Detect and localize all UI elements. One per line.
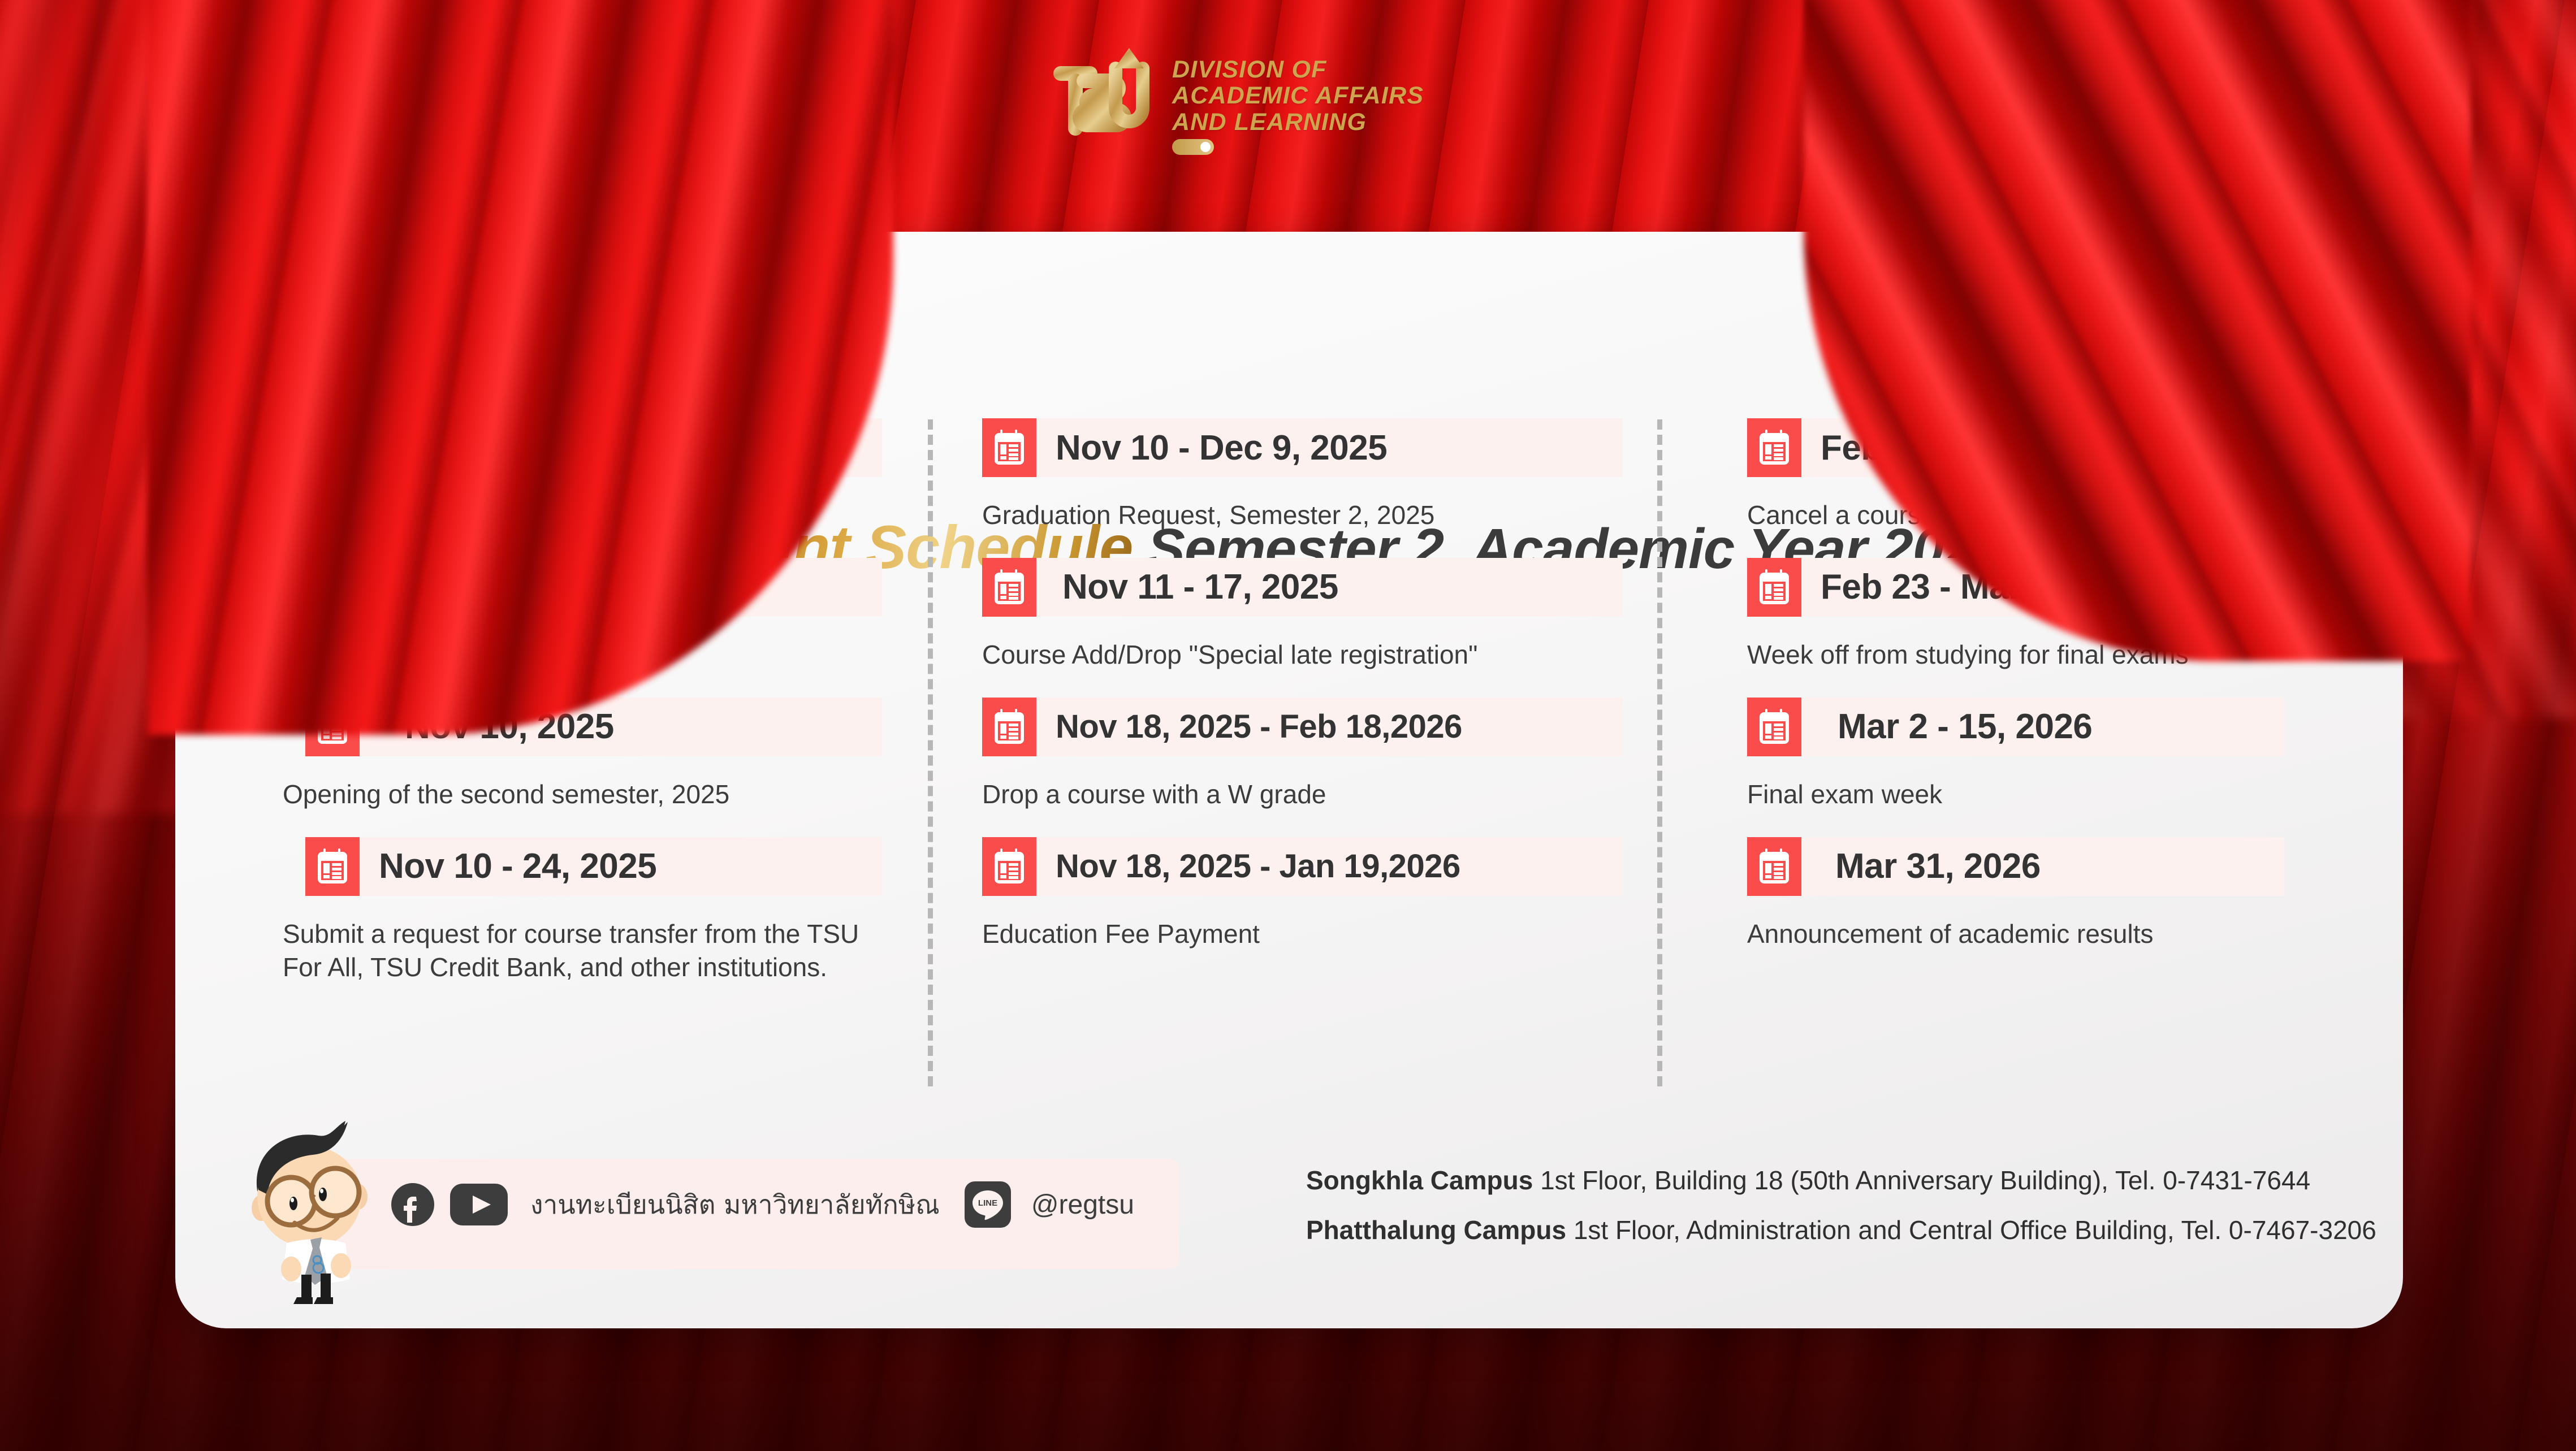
entry-description: Drop a course with a W grade (982, 778, 1623, 811)
schedule-entry[interactable]: Feb 9, 2026 Cancel a course for who don'… (1747, 418, 2369, 532)
logo-accent-dot (1172, 139, 1214, 155)
date-badge[interactable]: Nov 18, 2025 - Feb 18,2026 (982, 698, 1623, 756)
social-links-row: งานทะเบียนนิสิต มหาวิทยาลัยทักษิณ LINE @… (390, 1181, 1134, 1228)
calendar-icon (1747, 837, 1801, 896)
logo-line-3: AND LEARNING (1172, 110, 1424, 135)
date-badge[interactable]: Nov 18, 2025 - Jan 19,2026 (982, 837, 1623, 896)
date-text: Mar 2 - 15, 2026 (1801, 698, 2284, 756)
schedule-entry[interactable]: Nov 10 - Dec 9, 2025 Graduation Request,… (982, 418, 1623, 532)
date-text: Nov 18, 2025 - Jan 19,2026 (1036, 837, 1623, 896)
tsu-logo: DIVISION OF ACADEMIC AFFAIRS AND LEARNIN… (1049, 48, 1424, 164)
line-handle: @regtsu (1031, 1189, 1134, 1220)
footer: งานทะเบียนนิสิต มหาวิทยาลัยทักษิณ LINE @… (175, 1122, 2403, 1309)
date-text: Mar 31, 2026 (1801, 837, 2284, 896)
schedule-entry[interactable]: Mar 31, 2026 Announcement of academic re… (1747, 837, 2369, 951)
date-text: Oct 27 - Nov 2, 2025 (337, 418, 882, 477)
date-badge[interactable]: Mar 31, 2026 (1747, 837, 2284, 896)
entry-description: Week off from studying for final exams (1747, 638, 2369, 672)
calendar-icon (982, 837, 1036, 896)
entry-description: Online Course Add/Drop (283, 638, 882, 672)
campus-detail: 1st Floor, Building 18 (50th Anniversary… (1540, 1166, 2310, 1195)
schedule-column-2: Nov 10 - Dec 9, 2025 Graduation Request,… (933, 418, 1662, 1097)
schedule-entry[interactable]: Oct 27 - Nov 2, 2025 Course Registration… (283, 418, 882, 532)
mascot-illustration (235, 1118, 404, 1304)
entry-description: Cancel a course for who don't pay tuitio… (1747, 499, 2369, 532)
date-text: Feb 9, 2026 (1801, 418, 2284, 477)
calendar-icon (1747, 698, 1801, 756)
tsu-logo-text: DIVISION OF ACADEMIC AFFAIRS AND LEARNIN… (1172, 57, 1424, 155)
entry-description: Graduation Request, Semester 2, 2025 (982, 499, 1623, 532)
campus-line: Phatthalung Campus 1st Floor, Administra… (1306, 1217, 2376, 1243)
date-badge[interactable]: Feb 9, 2026 (1747, 418, 2284, 477)
calendar-icon (283, 418, 337, 477)
schedule-card: Important Schedule Semester 2, Academic … (175, 232, 2403, 1328)
schedule-column-1: Oct 27 - Nov 2, 2025 Course Registration… (175, 418, 933, 1097)
calendar-icon (1747, 558, 1801, 617)
date-badge[interactable]: Feb 23 - Mar 1, 2026 (1747, 558, 2284, 617)
date-badge[interactable]: Nov 10 - 24, 2025 (305, 837, 882, 896)
date-badge[interactable]: Nov 10, 2025 (305, 698, 882, 756)
calendar-icon (1747, 418, 1801, 477)
date-text: Nov 10 - Dec 9, 2025 (1036, 418, 1623, 477)
entry-description: Course Registration Semester 2,2025 (283, 499, 882, 532)
logo-line-1: DIVISION OF (1172, 57, 1424, 82)
campus-name: Phatthalung Campus (1306, 1215, 1566, 1245)
entry-description: Final exam week (1747, 778, 2369, 811)
schedule-entry[interactable]: Nov 18, 2025 - Jan 19,2026 Education Fee… (982, 837, 1623, 951)
date-text: Nov 10 - 24, 2025 (360, 837, 882, 896)
date-badge[interactable]: Nov 11 - 17, 2025 (982, 558, 1623, 617)
column-divider (1657, 419, 1662, 1086)
campus-line: Songkhla Campus 1st Floor, Building 18 (… (1306, 1167, 2376, 1193)
date-text: Nov 3 - 10, 2025 (360, 558, 882, 617)
calendar-icon (305, 837, 360, 896)
entry-description: Opening of the second semester, 2025 (283, 778, 882, 811)
calendar-icon (305, 698, 360, 756)
schedule-entry[interactable]: Nov 3 - 10, 2025 Online Course Add/Drop (305, 558, 882, 672)
tsu-logo-mark (1049, 48, 1162, 164)
schedule-entry[interactable]: Nov 11 - 17, 2025 Course Add/Drop "Speci… (982, 558, 1623, 672)
calendar-icon (305, 558, 360, 617)
entry-description: Education Fee Payment (982, 917, 1623, 951)
calendar-icon (982, 418, 1036, 477)
entry-description: Course Add/Drop "Special late registrati… (982, 638, 1623, 672)
schedule-column-3: Feb 9, 2026 Cancel a course for who don'… (1662, 418, 2403, 1097)
date-text: Nov 10, 2025 (360, 698, 882, 756)
line-icon[interactable]: LINE (965, 1181, 1011, 1228)
date-badge[interactable]: Oct 27 - Nov 2, 2025 (283, 418, 882, 477)
schedule-entry[interactable]: Nov 10, 2025 Opening of the second semes… (305, 698, 882, 811)
line-icon-label: LINE (978, 1198, 997, 1208)
campus-contact-block: Songkhla Campus 1st Floor, Building 18 (… (1306, 1167, 2376, 1267)
campus-detail: 1st Floor, Administration and Central Of… (1574, 1215, 2376, 1245)
schedule-entry[interactable]: Feb 23 - Mar 1, 2026 Week off from study… (1747, 558, 2369, 672)
schedule-columns: Oct 27 - Nov 2, 2025 Course Registration… (175, 418, 2403, 1097)
calendar-icon (982, 698, 1036, 756)
youtube-icon[interactable] (450, 1184, 508, 1225)
social-account-name: งานทะเบียนนิสิต มหาวิทยาลัยทักษิณ (530, 1184, 940, 1225)
date-text: Nov 11 - 17, 2025 (1036, 558, 1623, 617)
calendar-icon (982, 558, 1036, 617)
campus-name: Songkhla Campus (1306, 1166, 1533, 1195)
date-text: Feb 23 - Mar 1, 2026 (1801, 558, 2284, 617)
date-badge[interactable]: Nov 3 - 10, 2025 (305, 558, 882, 617)
entry-description: Submit a request for course transfer fro… (283, 917, 876, 984)
date-text: Nov 18, 2025 - Feb 18,2026 (1036, 698, 1623, 756)
schedule-entry[interactable]: Nov 18, 2025 - Feb 18,2026 Drop a course… (982, 698, 1623, 811)
logo-line-2: ACADEMIC AFFAIRS (1172, 83, 1424, 108)
column-divider (928, 419, 933, 1086)
schedule-entry[interactable]: Nov 10 - 24, 2025 Submit a request for c… (305, 837, 882, 984)
facebook-icon[interactable] (390, 1182, 435, 1227)
entry-description: Announcement of academic results (1747, 917, 2369, 951)
date-badge[interactable]: Mar 2 - 15, 2026 (1747, 698, 2284, 756)
schedule-entry[interactable]: Mar 2 - 15, 2026 Final exam week (1747, 698, 2369, 811)
date-badge[interactable]: Nov 10 - Dec 9, 2025 (982, 418, 1623, 477)
